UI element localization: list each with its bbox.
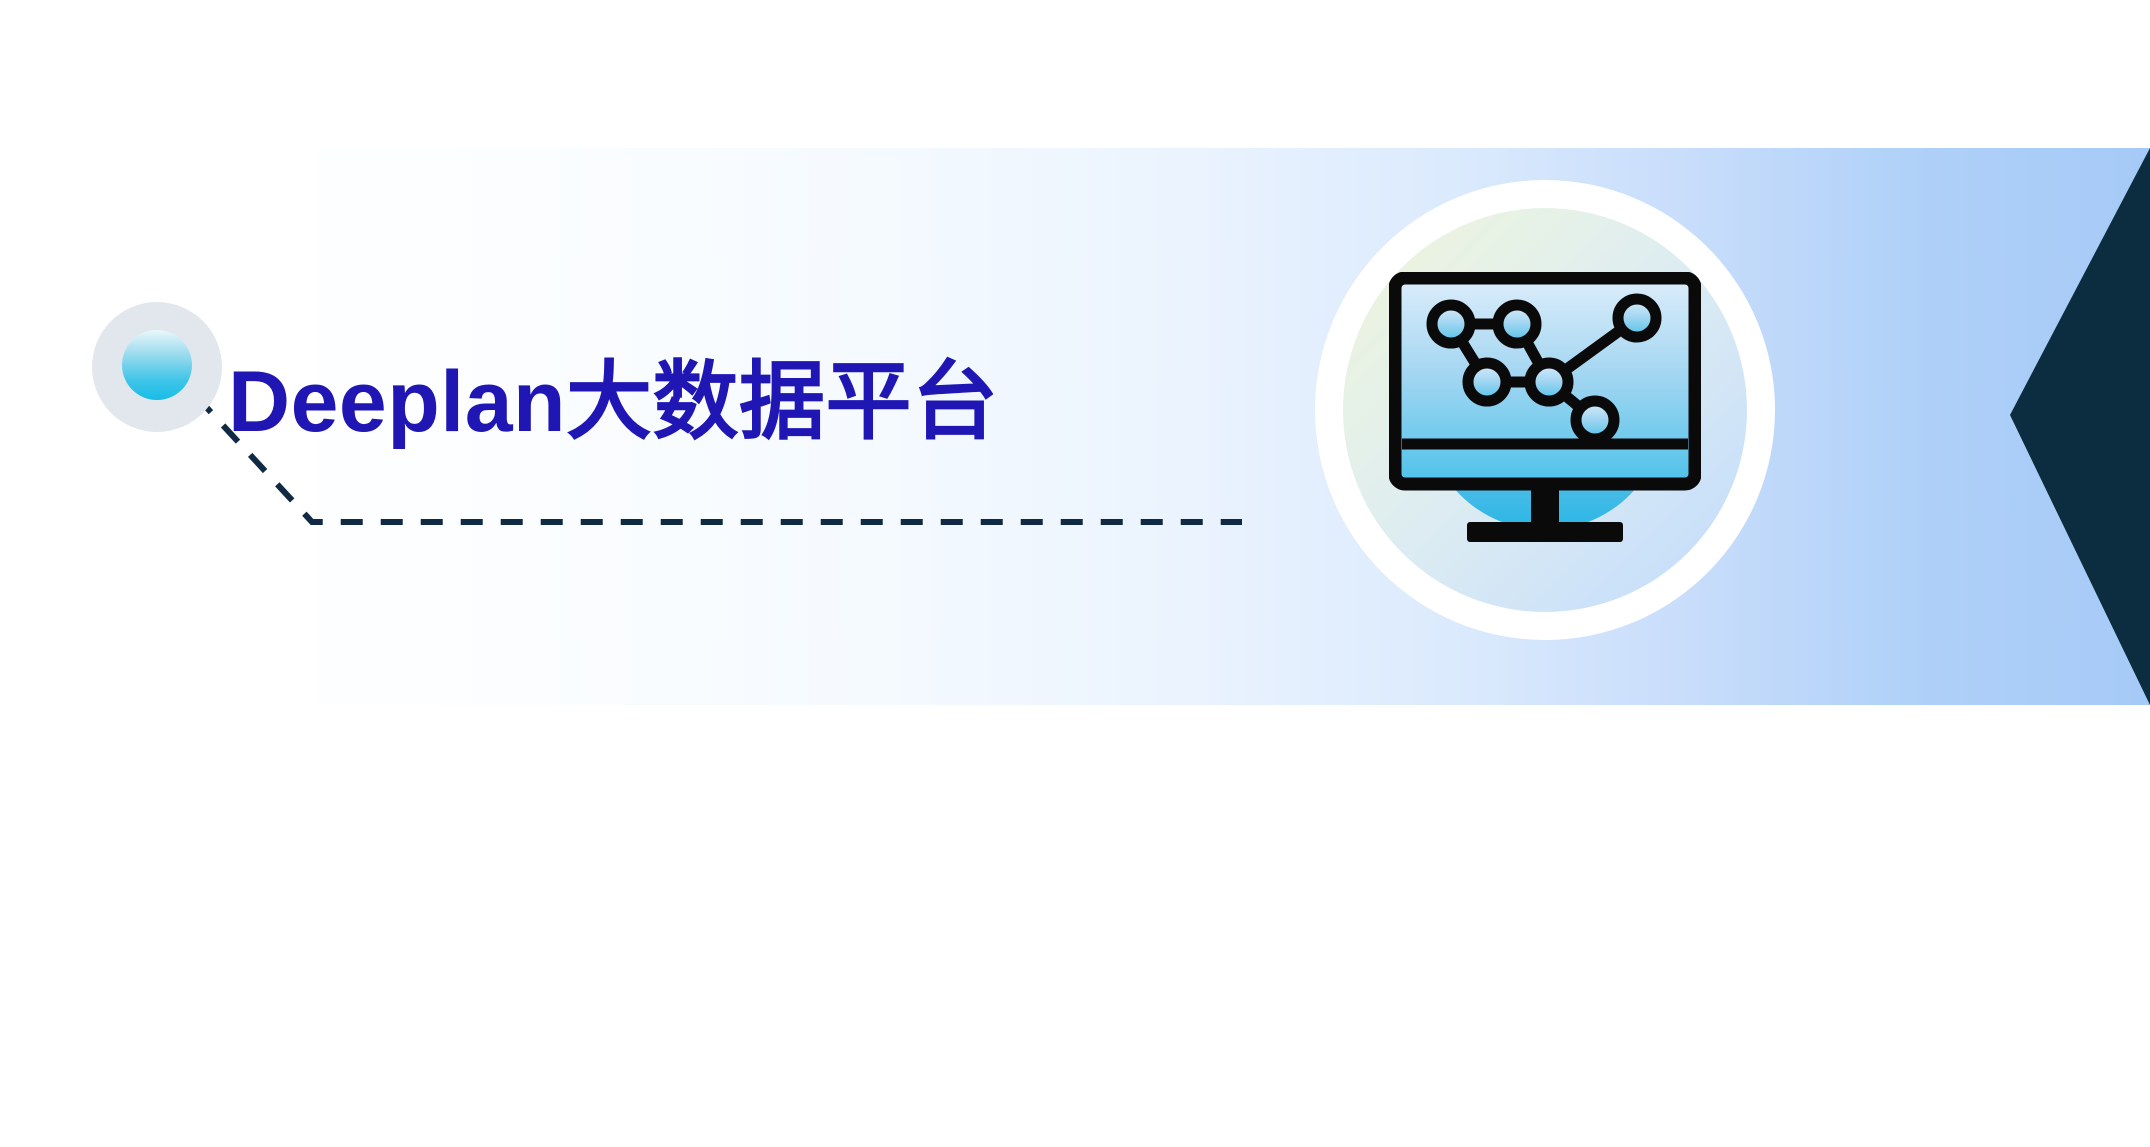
bullet-dot-core xyxy=(122,330,192,400)
page-title: Deeplan大数据平台 xyxy=(228,342,1128,462)
data-monitor-icon xyxy=(1315,180,1775,640)
monitor-chart-glyph xyxy=(1389,272,1701,552)
left-chevron-icon xyxy=(2010,148,2150,705)
slide-canvas: Deeplan大数据平台 xyxy=(0,0,2150,1147)
bullet-dot-icon xyxy=(92,302,222,432)
